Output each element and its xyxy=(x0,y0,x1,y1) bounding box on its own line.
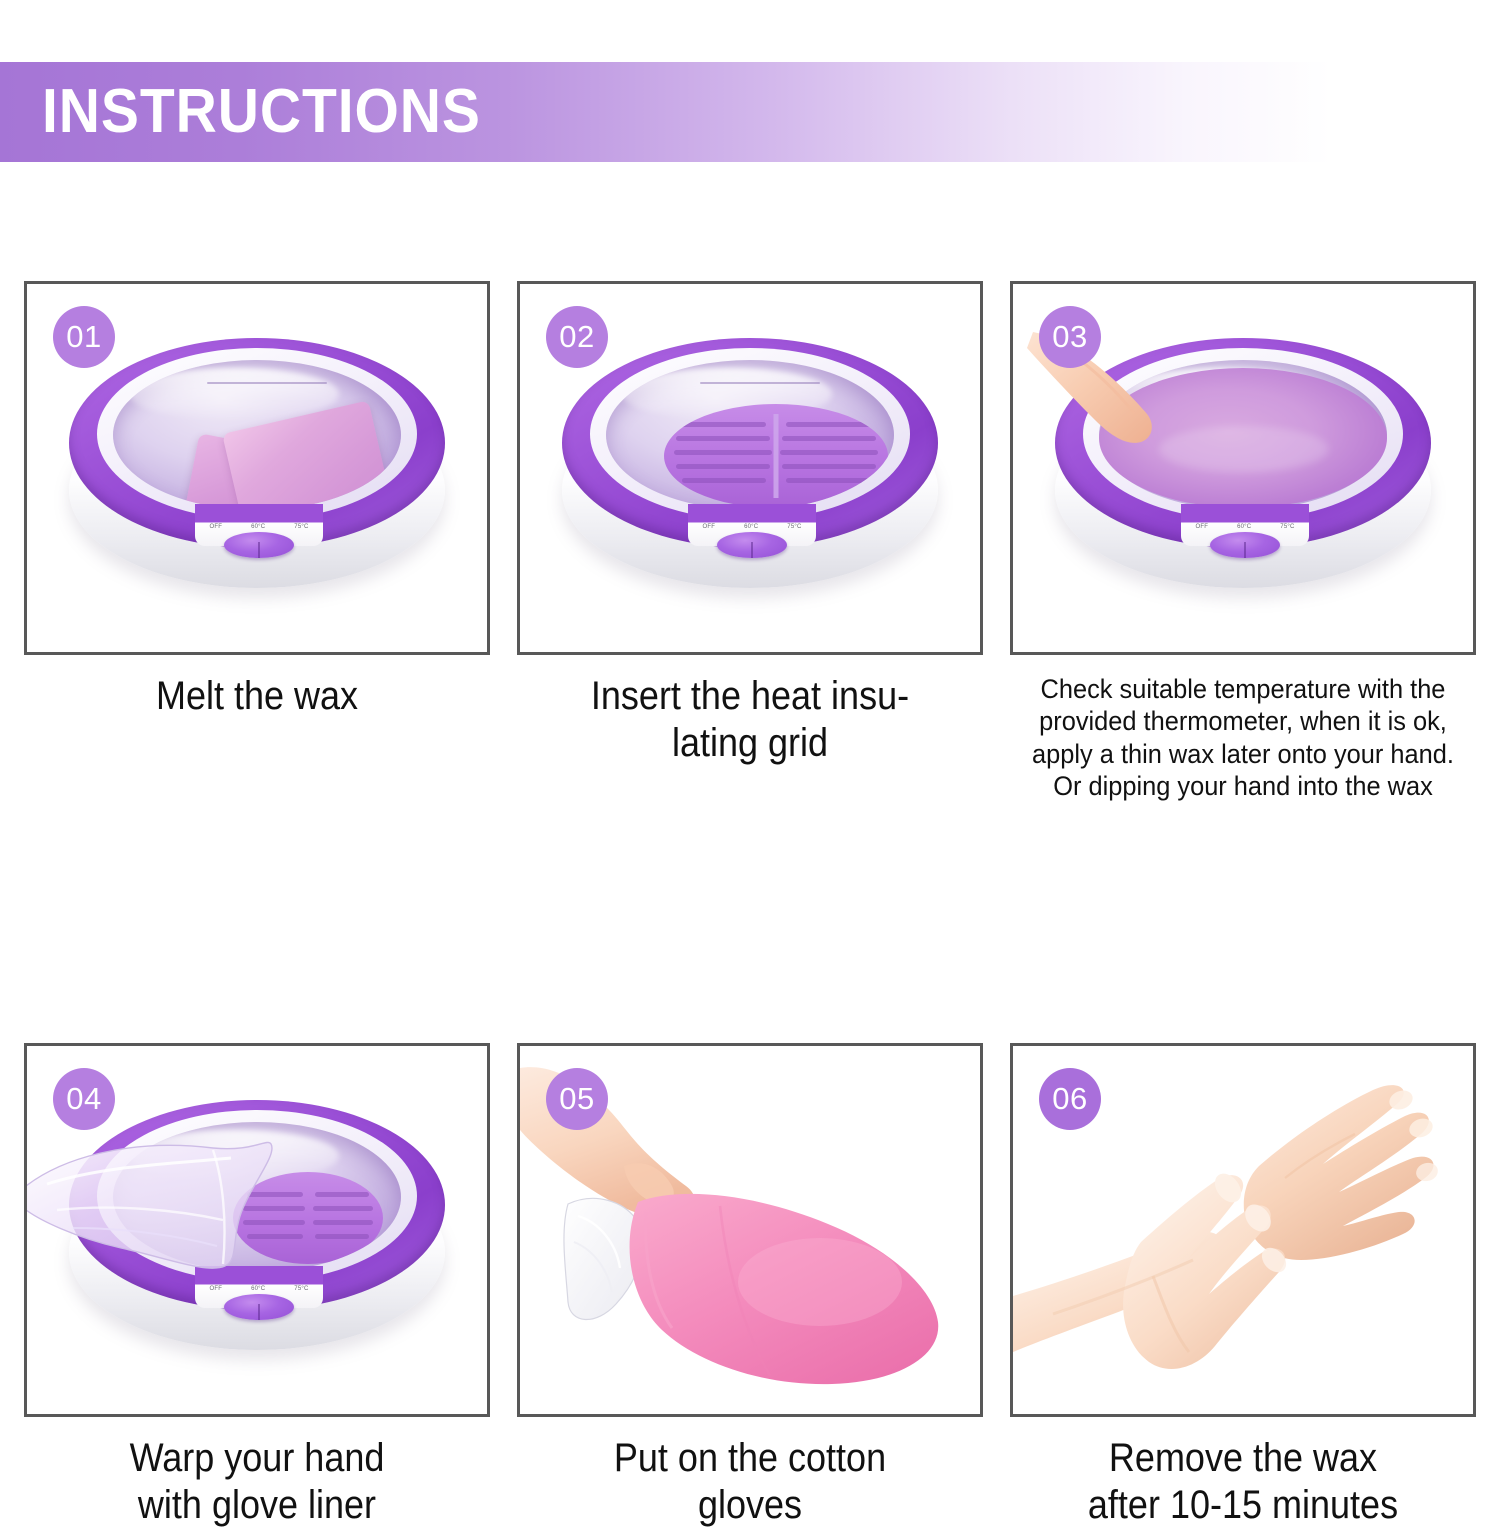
temperature-dial[interactable] xyxy=(224,532,294,558)
step-card-01: 01 OFF 60°C 75°C xyxy=(24,281,490,803)
step-caption-04: Warp your hand with glove liner xyxy=(47,1435,466,1529)
grid-center-divider xyxy=(774,414,779,498)
control-panel: OFF 60°C 75°C xyxy=(688,504,816,546)
bowl-highlight xyxy=(129,368,339,420)
step-caption-01: Melt the wax xyxy=(47,673,466,720)
control-panel-labels: OFF 60°C 75°C xyxy=(688,524,816,530)
wax-warmer-illustration: OFF 60°C 75°C xyxy=(550,318,950,618)
step-number-badge-02: 02 xyxy=(546,306,608,368)
control-panel: OFF 60°C 75°C xyxy=(1181,504,1309,546)
temperature-dial[interactable] xyxy=(1210,532,1280,558)
control-label-off: OFF xyxy=(702,524,715,530)
step-image-panel-05: 05 xyxy=(517,1043,983,1417)
dial-pointer xyxy=(258,542,260,558)
step-card-03: 03 xyxy=(1010,281,1476,803)
step-image-panel-06: 06 xyxy=(1010,1043,1476,1417)
control-panel: OFF 60°C 75°C xyxy=(195,504,323,546)
header-banner: INSTRUCTIONS xyxy=(0,62,1332,162)
step-card-02: 02 xyxy=(517,281,983,803)
step-number-badge-01: 01 xyxy=(53,306,115,368)
plastic-glove-liner-illustration xyxy=(24,1124,347,1294)
control-label-60c: 60°C xyxy=(251,524,265,530)
temperature-dial[interactable] xyxy=(224,1294,294,1320)
step-card-05: 05 xyxy=(517,1043,983,1529)
step-image-panel-02: 02 xyxy=(517,281,983,655)
control-label-75c: 75°C xyxy=(294,524,308,530)
control-label-off: OFF xyxy=(209,524,222,530)
wax-warmer-illustration: OFF 60°C 75°C xyxy=(57,1080,457,1380)
step-image-panel-03: 03 xyxy=(1010,281,1476,655)
wax-warmer-illustration: OFF 60°C 75°C xyxy=(1043,318,1443,618)
steps-grid: 01 OFF 60°C 75°C xyxy=(24,281,1476,1529)
control-label-60c: 60°C xyxy=(744,524,758,530)
control-panel-labels: OFF 60°C 75°C xyxy=(1181,524,1309,530)
warmer-inner-bowl xyxy=(606,360,894,510)
control-panel-labels: OFF 60°C 75°C xyxy=(195,524,323,530)
step-image-panel-04: 04 xyxy=(24,1043,490,1417)
step-caption-03: Check suitable temperature with the prov… xyxy=(1024,673,1462,803)
step-number-badge-06: 06 xyxy=(1039,1068,1101,1130)
control-label-60c: 60°C xyxy=(1237,524,1251,530)
control-label-off: OFF xyxy=(1195,524,1208,530)
step-number-badge-05: 05 xyxy=(546,1068,608,1130)
control-label-75c: 75°C xyxy=(1280,524,1294,530)
bowl-max-line xyxy=(207,382,327,384)
step-card-04: 04 xyxy=(24,1043,490,1529)
warmer-inner-bowl xyxy=(113,360,401,510)
heat-insulating-grid xyxy=(664,404,888,508)
step-caption-05: Put on the cotton gloves xyxy=(540,1435,959,1529)
step-card-06: 06 xyxy=(1010,1043,1476,1529)
page-title: INSTRUCTIONS xyxy=(42,81,481,143)
dial-pointer xyxy=(258,1304,260,1320)
step-caption-02: Insert the heat insu- lating grid xyxy=(540,673,959,767)
bowl-max-line xyxy=(700,382,820,384)
step-number-badge-04: 04 xyxy=(53,1068,115,1130)
step-caption-06: Remove the wax after 10-15 minutes xyxy=(1033,1435,1452,1529)
wax-warmer-illustration: OFF 60°C 75°C xyxy=(57,318,457,618)
warmer-purple-rim xyxy=(69,1100,445,1310)
dial-pointer xyxy=(1244,542,1246,558)
step-number-badge-03: 03 xyxy=(1039,306,1101,368)
control-label-75c: 75°C xyxy=(787,524,801,530)
temperature-dial[interactable] xyxy=(717,532,787,558)
step-image-panel-01: 01 OFF 60°C 75°C xyxy=(24,281,490,655)
dial-pointer xyxy=(751,542,753,558)
